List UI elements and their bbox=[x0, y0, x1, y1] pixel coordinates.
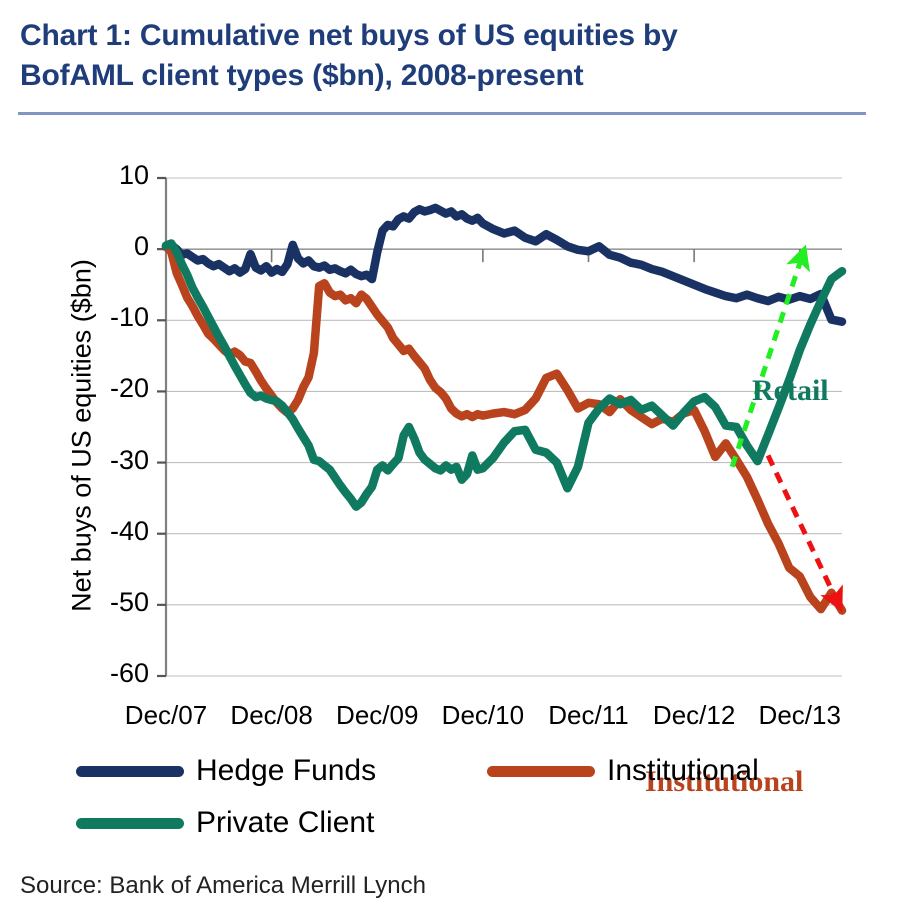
legend-label: Private Client bbox=[196, 808, 374, 838]
title-block: Chart 1: Cumulative net buys of US equit… bbox=[20, 16, 880, 96]
series-group bbox=[166, 208, 842, 611]
page-title: Chart 1: Cumulative net buys of US equit… bbox=[20, 16, 880, 96]
annotation-retail: Retail bbox=[752, 374, 829, 408]
legend-swatch-icon bbox=[76, 766, 184, 777]
y-tick-label: -60 bbox=[79, 658, 149, 689]
series-line-hedge-funds bbox=[166, 208, 842, 322]
chart-legend: Hedge Funds Institutional Private Client bbox=[0, 752, 900, 852]
title-divider bbox=[18, 112, 866, 115]
source-note: Source: Bank of America Merrill Lynch bbox=[20, 872, 426, 900]
legend-item-private-client: Private Client bbox=[76, 808, 374, 838]
y-tick-label: -30 bbox=[79, 445, 149, 476]
y-tick-label: -10 bbox=[79, 302, 149, 333]
x-tick-label: Dec/13 bbox=[730, 700, 870, 731]
legend-swatch-icon bbox=[487, 766, 595, 777]
y-tick-label: -20 bbox=[79, 373, 149, 404]
y-tick-label: 10 bbox=[79, 160, 149, 191]
legend-item-institutional: Institutional bbox=[487, 756, 759, 786]
chart-plot-area: Net buys of US equities ($bn) 100-10-20-… bbox=[0, 150, 900, 710]
legend-label: Institutional bbox=[607, 756, 759, 786]
y-axis-label: Net buys of US equities ($bn) bbox=[67, 236, 98, 636]
y-tick-label: 0 bbox=[79, 231, 149, 262]
legend-label: Hedge Funds bbox=[196, 756, 376, 786]
y-tick-label: -40 bbox=[79, 516, 149, 547]
y-tick-label: -50 bbox=[79, 587, 149, 618]
legend-swatch-icon bbox=[76, 818, 184, 829]
legend-item-hedge-funds: Hedge Funds bbox=[76, 756, 376, 786]
